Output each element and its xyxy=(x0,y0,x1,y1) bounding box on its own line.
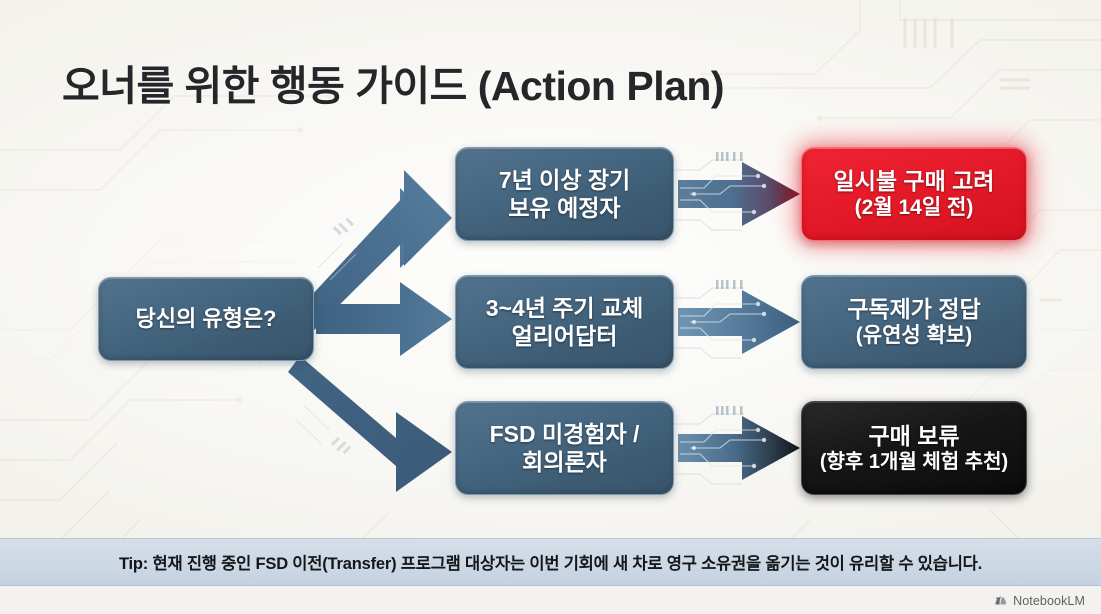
flow-node-start-label: 당신의 유형은? xyxy=(136,306,277,333)
footer-bar xyxy=(0,586,1101,614)
flow-node-result-3-line1: 구매 보류 xyxy=(868,422,959,450)
flow-node-condition-2-line2: 얼리어답터 xyxy=(512,322,618,350)
flow-node-condition-3-line1: FSD 미경험자 / xyxy=(490,420,640,448)
flow-node-condition-3[interactable]: FSD 미경험자 / 회의론자 xyxy=(455,401,674,495)
notebooklm-watermark: NotebookLM xyxy=(994,594,1085,608)
flow-node-result-2[interactable]: 구독제가 정답 (유연성 확보) xyxy=(801,275,1027,369)
tip-text: Tip: 현재 진행 중인 FSD 이전(Transfer) 프로그램 대상자는… xyxy=(119,550,982,574)
tip-label: Tip: xyxy=(119,555,148,573)
flow-node-result-2-line2: (유연성 확보) xyxy=(856,323,972,349)
tip-bar: Tip: 현재 진행 중인 FSD 이전(Transfer) 프로그램 대상자는… xyxy=(0,538,1101,586)
flow-node-result-2-line1: 구독제가 정답 xyxy=(847,295,980,323)
slide-canvas: 오너를 위한 행동 가이드 (Action Plan) xyxy=(0,0,1101,614)
notebooklm-icon xyxy=(994,594,1008,608)
flow-node-result-1[interactable]: 일시불 구매 고려 (2월 14일 전) xyxy=(801,147,1027,241)
flow-node-result-1-line2: (2월 14일 전) xyxy=(855,195,974,221)
tip-body: 현재 진행 중인 FSD 이전(Transfer) 프로그램 대상자는 이번 기… xyxy=(148,555,982,573)
flow-node-condition-1[interactable]: 7년 이상 장기 보유 예정자 xyxy=(455,147,674,241)
flow-node-result-3[interactable]: 구매 보류 (향후 1개월 체험 추천) xyxy=(801,401,1027,495)
notebooklm-label: NotebookLM xyxy=(1013,594,1085,608)
flow-node-result-1-line1: 일시불 구매 고려 xyxy=(834,167,995,195)
flow-node-start[interactable]: 당신의 유형은? xyxy=(98,277,314,361)
page-title: 오너를 위한 행동 가이드 (Action Plan) xyxy=(62,52,724,112)
flow-node-condition-2[interactable]: 3~4년 주기 교체 얼리어답터 xyxy=(455,275,674,369)
flow-node-condition-1-line1: 7년 이상 장기 xyxy=(499,166,630,194)
flow-node-condition-2-line1: 3~4년 주기 교체 xyxy=(486,294,644,322)
flow-node-condition-3-line2: 회의론자 xyxy=(522,448,607,476)
flow-node-result-3-line2: (향후 1개월 체험 추천) xyxy=(820,450,1008,474)
flow-node-condition-1-line2: 보유 예정자 xyxy=(508,194,620,222)
